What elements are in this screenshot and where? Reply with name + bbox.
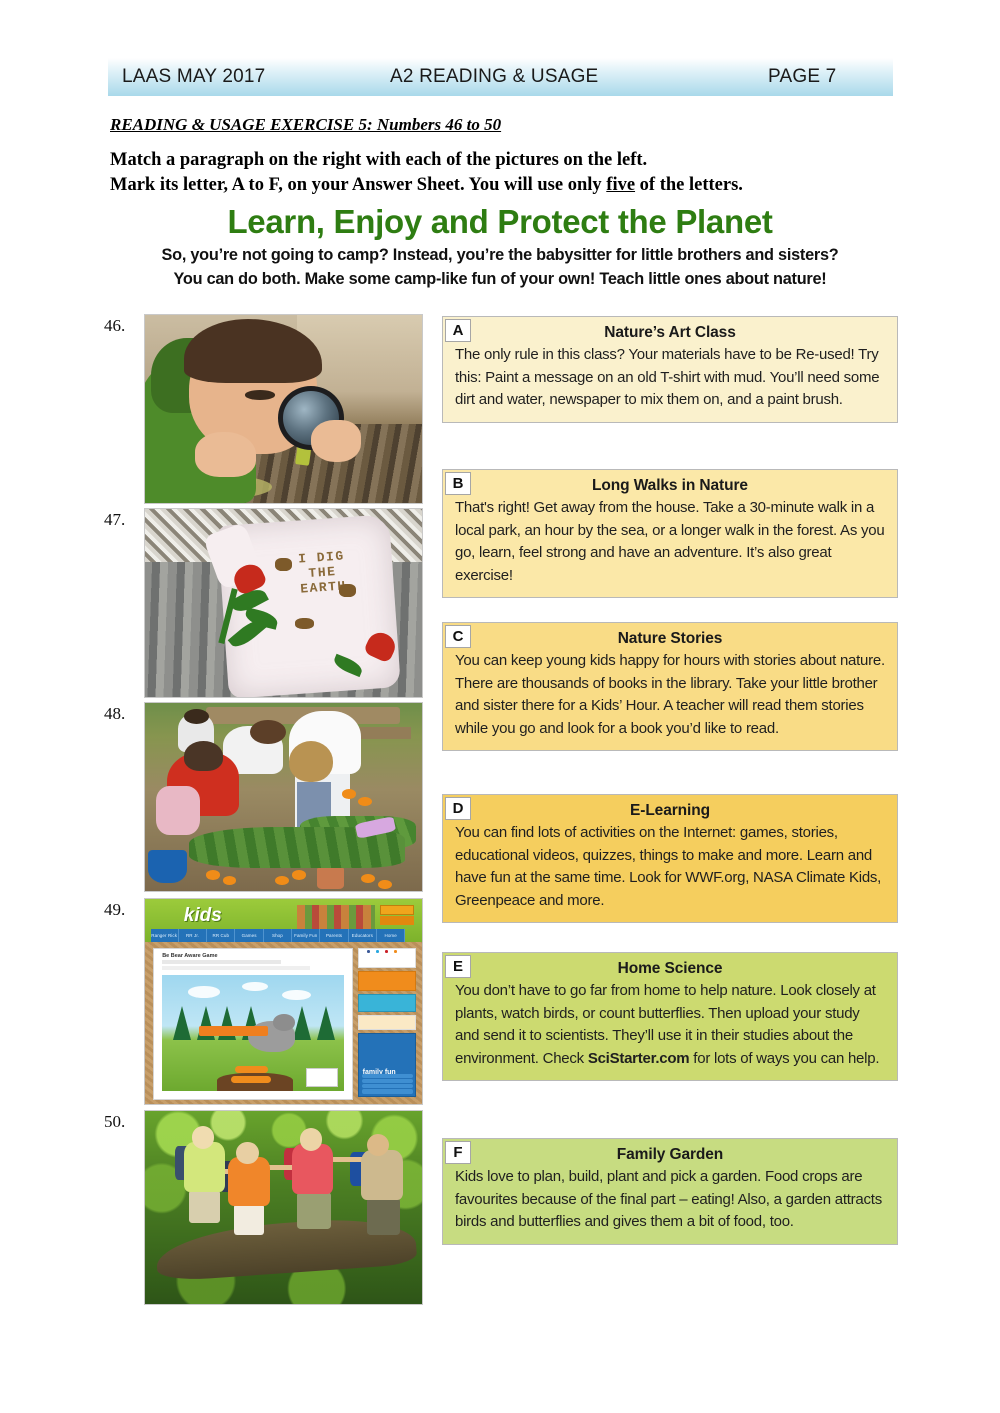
paragraph-letter-badge-f[interactable]: F <box>445 1141 471 1164</box>
article-subtitle-line-2: You can do both. Make some camp-like fun… <box>100 267 900 291</box>
paragraph-body-a: The only rule in this class? Your materi… <box>455 344 885 412</box>
twitter-icon <box>376 950 379 953</box>
instruction-emphasis-five: five <box>606 175 635 195</box>
article-subtitle: So, you’re not going to camp? Instead, y… <box>100 243 900 291</box>
website-nav-item: RR Cub <box>207 929 235 942</box>
picture-number-47: 47. <box>104 510 125 530</box>
website-nav-item: Family Fun <box>292 929 320 942</box>
photo-kids-nature-website: kids Ranger Rick RR Jr. RR Cub Games Sho… <box>145 899 422 1104</box>
instruction-line-2-post: of the letters. <box>635 175 743 195</box>
paragraph-body-c: You can keep young kids happy for hours … <box>455 650 885 740</box>
instruction-line-1: Match a paragraph on the right with each… <box>110 148 743 173</box>
website-logo: kids <box>184 905 222 927</box>
pinterest-icon <box>385 950 388 953</box>
picture-number-48: 48. <box>104 704 125 724</box>
picture-frame-46 <box>144 314 423 504</box>
website-family-fun-box: family fun <box>358 1033 416 1097</box>
paragraph-title-c: Nature Stories <box>455 630 885 648</box>
worksheet-page: LAAS MAY 2017 A2 READING & USAGE PAGE 7 … <box>0 0 1000 1413</box>
exercise-instructions: Match a paragraph on the right with each… <box>110 148 743 198</box>
paragraph-option-d[interactable]: D E-Learning You can find lots of activi… <box>442 794 898 923</box>
header-page-number: PAGE 7 <box>768 66 836 88</box>
website-sidebar-item-songs <box>362 1089 414 1093</box>
facebook-icon <box>367 950 370 953</box>
paragraph-letter-badge-b[interactable]: B <box>445 472 471 495</box>
paragraph-letter-badge-e[interactable]: E <box>445 955 471 978</box>
website-nav-item: Parents <box>320 929 348 942</box>
paragraph-letter-badge-c[interactable]: C <box>445 625 471 648</box>
scistarter-link[interactable]: SciStarter.com <box>588 1050 690 1067</box>
article-subtitle-line-1: So, you’re not going to camp? Instead, y… <box>100 243 900 267</box>
website-game-card: Be Bear Aware Game <box>153 948 352 1100</box>
paragraph-body-f: Kids love to plan, build, plant and pick… <box>455 1166 885 1234</box>
website-subscribe-button <box>380 905 413 915</box>
website-game-title: Be Bear Aware Game <box>162 953 217 959</box>
website-how-to-play-button <box>231 1076 271 1083</box>
website-social-box <box>358 948 416 968</box>
picture-frame-47: I DIG THE EARTH <box>144 508 423 698</box>
website-nav-item: Shop <box>264 929 292 942</box>
paragraph-body-b: That's right! Get away from the house. T… <box>455 497 885 587</box>
paragraph-option-b[interactable]: B Long Walks in Nature That's right! Get… <box>442 469 898 598</box>
instruction-line-2-pre: Mark its letter, A to F, on your Answer … <box>110 175 606 195</box>
website-nav-item: RR Jr. <box>179 929 207 942</box>
website-game-canvas <box>162 975 344 1092</box>
website-sidebar-item-recipes <box>362 1079 414 1083</box>
header-exam-label: LAAS MAY 2017 <box>122 66 265 88</box>
paragraph-letter-badge-d[interactable]: D <box>445 797 471 820</box>
picture-number-46: 46. <box>104 316 125 336</box>
paragraph-letter-badge-a[interactable]: A <box>445 319 471 342</box>
paragraph-title-f: Family Garden <box>455 1146 885 1164</box>
photo-children-gardening <box>145 703 422 891</box>
instruction-line-2: Mark its letter, A to F, on your Answer … <box>110 173 743 198</box>
rss-icon <box>394 950 397 953</box>
header-section-label: A2 READING & USAGE <box>390 66 598 88</box>
picture-number-50: 50. <box>104 1112 125 1132</box>
website-play-button <box>235 1066 268 1073</box>
paragraph-option-a[interactable]: A Nature’s Art Class The only rule in th… <box>442 316 898 423</box>
paragraph-title-e: Home Science <box>455 960 885 978</box>
website-nav-item: Educators <box>349 929 377 942</box>
picture-frame-49: kids Ranger Rick RR Jr. RR Cub Games Sho… <box>144 898 423 1105</box>
paragraph-option-e[interactable]: E Home Science You don’t have to go far … <box>442 952 898 1081</box>
exercise-title: READING & USAGE EXERCISE 5: Numbers 46 t… <box>110 115 501 135</box>
paragraph-title-a: Nature’s Art Class <box>455 324 885 342</box>
website-nav-item: Home <box>377 929 405 942</box>
picture-frame-50 <box>144 1110 423 1305</box>
website-newsletter-promo <box>358 1015 416 1030</box>
paragraph-title-b: Long Walks in Nature <box>455 477 885 495</box>
paragraph-body-e: You don’t have to go far from home to he… <box>455 980 885 1070</box>
website-magazine-promo <box>358 994 416 1012</box>
photo-mud-painted-tshirt: I DIG THE EARTH <box>145 509 422 697</box>
photo-children-hiking-in-forest <box>145 1111 422 1304</box>
paragraph-option-c[interactable]: C Nature Stories You can keep young kids… <box>442 622 898 751</box>
picture-frame-48 <box>144 702 423 892</box>
article-title: Learn, Enjoy and Protect the Planet <box>0 203 1000 241</box>
website-sidebar-item-crafts <box>362 1074 414 1078</box>
paragraph-title-d: E-Learning <box>455 802 885 820</box>
paragraph-body-e-post: for lots of ways you can help. <box>689 1050 879 1067</box>
photo-boy-with-magnifying-glass <box>145 315 422 503</box>
page-header-bar: LAAS MAY 2017 A2 READING & USAGE PAGE 7 <box>108 58 893 96</box>
website-sidebar: family fun <box>358 948 416 1100</box>
website-navbar: Ranger Rick RR Jr. RR Cub Games Shop Fam… <box>151 929 406 942</box>
paragraph-option-f[interactable]: F Family Garden Kids love to plan, build… <box>442 1138 898 1245</box>
website-sidebar-item-outdoor <box>362 1084 414 1088</box>
website-nav-item: Games <box>235 929 263 942</box>
picture-number-49: 49. <box>104 900 125 920</box>
website-videos-promo <box>358 971 416 991</box>
website-nav-item: Ranger Rick <box>151 929 179 942</box>
paragraph-body-d: You can find lots of activities on the I… <box>455 822 885 912</box>
